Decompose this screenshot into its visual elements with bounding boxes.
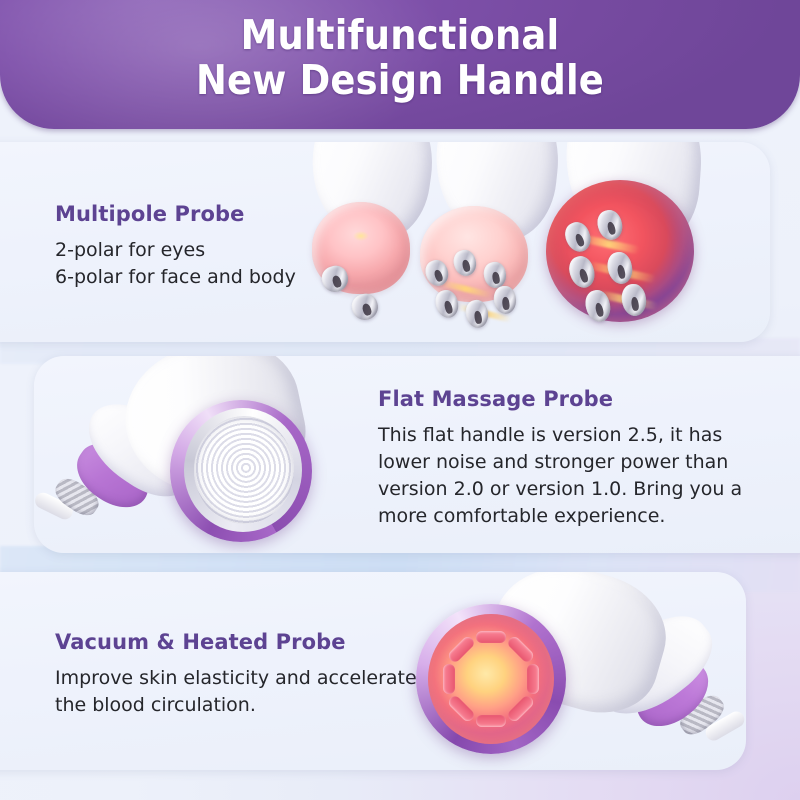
vacuum-heated-probe-text-block: Vacuum & Heated Probe Improve skin elast… xyxy=(55,630,417,719)
probe-stem-vacuum xyxy=(581,598,726,734)
multipole-probe-body-line-2: 6-polar for face and body xyxy=(55,264,296,291)
probe-purple-collar-flat xyxy=(66,433,160,520)
flat-massage-probe-body-line-3: version 2.0 or version 1.0. Bring you a xyxy=(378,476,742,503)
page-title: Multifunctional New Design Handle xyxy=(0,0,800,103)
probe-handle-6polar-white xyxy=(428,142,566,246)
section-card-flat-massage-probe: Flat Massage Probe This flat handle is v… xyxy=(34,356,800,553)
probe-handle-2polar xyxy=(302,142,442,248)
electrode-6polar-d xyxy=(433,288,462,321)
electrode-2polar-a xyxy=(319,263,352,296)
probe-face-vacuum xyxy=(428,614,554,744)
electrode-glow-c xyxy=(566,253,599,291)
probe-rim-inner-flat xyxy=(184,408,302,532)
probe-cable-end-flat xyxy=(34,490,75,522)
vacuum-slot-8 xyxy=(446,634,476,664)
multipole-probe-image xyxy=(308,144,758,342)
flat-massage-probe-body-line-4: more comfortable experience. xyxy=(378,503,742,530)
glow-bar-5 xyxy=(596,290,658,311)
flat-massage-probe-body: This flat handle is version 2.5, it has … xyxy=(378,422,742,530)
probe-head-6polar-white xyxy=(420,206,528,302)
probe-rim-outer-flat xyxy=(170,400,312,542)
glow-bar-1 xyxy=(440,280,492,298)
probe-cable-vacuum xyxy=(675,690,729,740)
probe-disc-flat xyxy=(194,416,294,524)
electrode-6polar-e xyxy=(464,298,491,329)
vacuum-heated-probe-heading: Vacuum & Heated Probe xyxy=(55,630,417,654)
probe-head-2polar xyxy=(312,202,410,294)
vacuum-slot-6 xyxy=(446,694,476,724)
glow-bar-4 xyxy=(586,261,656,283)
electrode-6polar-c xyxy=(482,260,508,289)
flat-massage-probe-image xyxy=(48,362,378,552)
multipole-probe-body: 2-polar for eyes 6-polar for face and bo… xyxy=(55,237,296,291)
vacuum-heated-probe-body-line-1: Improve skin elasticity and accelerate xyxy=(55,665,417,692)
probe-rim-vacuum xyxy=(416,604,566,754)
infographic-page: Multifunctional New Design Handle Multip… xyxy=(0,0,800,800)
electrode-2polar-b xyxy=(349,291,382,324)
electrode-glow-e xyxy=(582,288,613,325)
electrode-6polar-f xyxy=(493,285,518,315)
flat-massage-probe-text-block: Flat Massage Probe This flat handle is v… xyxy=(378,387,742,530)
page-title-line-2: New Design Handle xyxy=(0,58,800,103)
glow-bar-3 xyxy=(578,234,640,255)
probe-cable-flat xyxy=(51,473,104,520)
electrode-glow-f xyxy=(620,282,648,317)
vacuum-slot-7 xyxy=(443,664,455,694)
probe-purple-collar-vacuum xyxy=(624,647,720,739)
flat-massage-probe-heading: Flat Massage Probe xyxy=(378,387,742,411)
vacuum-slot-2 xyxy=(506,634,536,664)
section-card-vacuum-heated-probe: Vacuum & Heated Probe Improve skin elast… xyxy=(0,572,746,770)
page-title-line-1: Multifunctional xyxy=(0,13,800,58)
vacuum-heated-probe-body-line-2: the blood circulation. xyxy=(55,692,417,719)
probe-handle-6polar-glow xyxy=(560,142,707,253)
header-banner: Multifunctional New Design Handle xyxy=(0,0,800,129)
probe-body-flat xyxy=(112,356,315,511)
vacuum-slot-4 xyxy=(506,694,536,724)
flat-massage-probe-body-line-2: lower noise and stronger power than xyxy=(378,449,742,476)
electrode-6polar-b xyxy=(451,248,479,279)
probe-ring-purple xyxy=(538,172,702,330)
vacuum-slot-3 xyxy=(527,664,539,694)
vacuum-heated-probe-image xyxy=(400,578,730,768)
probe-stem-flat xyxy=(73,387,210,511)
vacuum-heated-probe-body: Improve skin elasticity and accelerate t… xyxy=(55,665,417,719)
probe-body-vacuum xyxy=(477,572,680,727)
electrode-glow-b xyxy=(594,207,625,242)
glow-bar-2 xyxy=(456,303,512,322)
multipole-probe-body-line-1: 2-polar for eyes xyxy=(55,237,296,264)
vacuum-slot-1 xyxy=(476,631,506,643)
vacuum-slot-5 xyxy=(476,715,506,727)
probe-cable-end-vacuum xyxy=(703,709,746,744)
electrode-6polar-a xyxy=(422,257,452,289)
electrode-glow-d xyxy=(605,250,635,286)
multipole-probe-heading: Multipole Probe xyxy=(55,202,296,226)
electrode-glow-a xyxy=(561,219,594,256)
multipole-probe-text-block: Multipole Probe 2-polar for eyes 6-polar… xyxy=(55,202,296,291)
probe-head-6polar-glow xyxy=(546,180,694,322)
section-card-multipole-probe: Multipole Probe 2-polar for eyes 6-polar… xyxy=(0,142,770,342)
flat-massage-probe-body-line-1: This flat handle is version 2.5, it has xyxy=(378,422,742,449)
